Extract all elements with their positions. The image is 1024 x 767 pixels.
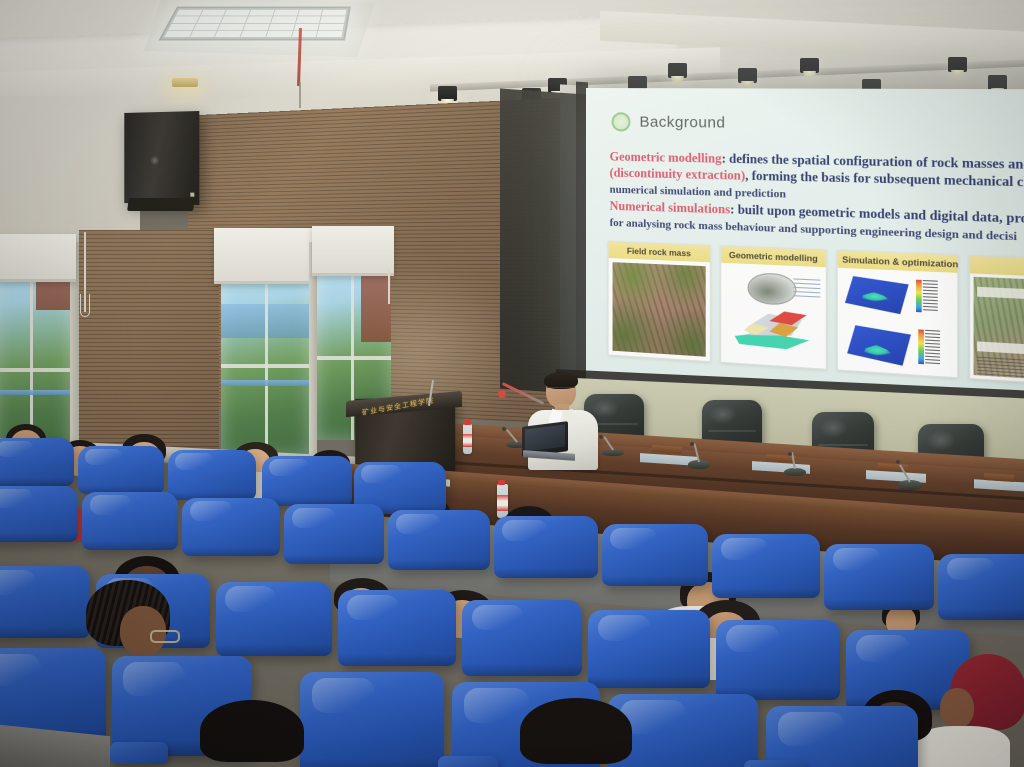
window-wall (0, 236, 396, 466)
seat-armrest (744, 760, 806, 767)
blind-cord (388, 270, 390, 304)
legend-lines (793, 278, 821, 299)
wall-washer-light-icon (172, 78, 198, 87)
slide-panel (969, 255, 1024, 387)
auditorium-seat (766, 706, 918, 767)
glasses-icon (547, 387, 575, 394)
auditorium-seat (82, 492, 178, 550)
spot-light-icon (800, 58, 819, 73)
auditorium-seat (388, 510, 490, 570)
auditorium-seat (602, 524, 708, 586)
auditorium-seat (284, 504, 384, 564)
microphone-icon (688, 443, 710, 469)
slide-keyword: Geometric modelling (610, 149, 722, 165)
spot-light-icon (668, 63, 687, 78)
presenter-microphone-head (498, 390, 506, 398)
window-blind (214, 228, 318, 284)
blind-cord-loop (80, 294, 90, 317)
spot-light-icon (948, 57, 967, 72)
grey-hanging-cable (299, 82, 301, 108)
slide-panel: Geometric modelling (720, 245, 827, 370)
auditorium-seat (462, 600, 582, 676)
spot-light-icon (738, 68, 757, 83)
auditorium-seat (712, 534, 820, 598)
colorbar (916, 280, 922, 313)
colorbar-ticks (923, 280, 938, 313)
audience-member (196, 700, 316, 767)
fluorescent-ceiling-light (158, 7, 350, 41)
upper-wall-left (0, 96, 140, 246)
audience-member-headscarf (936, 654, 1024, 767)
slide-panel-body (838, 268, 957, 378)
microphone-icon (898, 462, 922, 490)
microphone-icon (784, 452, 806, 476)
fem-contour-plot (844, 321, 913, 370)
auditorium-seat (0, 438, 74, 486)
auditorium-seat (716, 620, 840, 700)
slide-keyword: (discontinuity extraction) (610, 166, 746, 183)
lecture-hall-photo: Background Geometric modelling: defines … (0, 0, 1024, 767)
auditorium-seat (168, 450, 256, 500)
spot-light-icon (438, 86, 457, 101)
auditorium-seat (182, 498, 280, 556)
window-blind (312, 226, 394, 276)
window-blind-brown (79, 230, 219, 456)
seat-armrest (438, 756, 498, 767)
water-bottle-icon (463, 424, 472, 454)
auditorium-seat (588, 610, 710, 688)
laptop-icon (522, 424, 576, 458)
spot-light-icon (988, 75, 1007, 90)
auditorium-seat (78, 446, 164, 494)
colorbar-ticks (925, 330, 940, 365)
slide-panel: Simulation & optimization (837, 250, 959, 379)
3d-block-model (731, 307, 810, 358)
audience-member-braided (76, 580, 180, 690)
slide-header: Background (612, 112, 726, 133)
loudspeaker-bracket (127, 198, 195, 211)
slide-panel-body (970, 273, 1024, 385)
auditorium-seat (824, 544, 934, 610)
slide-body: Geometric modelling: defines the spatial… (610, 148, 1024, 248)
slide-panel: Field rock mass (608, 241, 711, 362)
colorbar (918, 329, 924, 364)
auditorium-seat (0, 486, 78, 542)
slide-header-text: Background (639, 113, 725, 131)
slide-keyword: Numerical simulations (610, 199, 731, 217)
auditorium-seat (300, 672, 444, 767)
auditorium-seat (216, 582, 332, 656)
glasses-icon (150, 630, 180, 643)
auditorium-seat (494, 516, 598, 578)
fem-contour-plot (842, 272, 911, 318)
slide-panel-body (721, 263, 826, 369)
auditorium-seat (262, 456, 352, 506)
circle-bullet-icon (612, 112, 631, 131)
window-blind (0, 234, 76, 282)
rock-mass-photo (613, 262, 706, 357)
slide-panel-body (609, 258, 710, 361)
auditorium-seat (338, 590, 456, 666)
stereonet-diagram (748, 272, 796, 306)
seat-armrest (110, 742, 168, 764)
slide-panel-row: Field rock mass Geometric modelling (608, 241, 1024, 387)
loudspeaker-icon (124, 111, 199, 205)
auditorium-seat (938, 554, 1024, 620)
audience-member (516, 698, 646, 767)
